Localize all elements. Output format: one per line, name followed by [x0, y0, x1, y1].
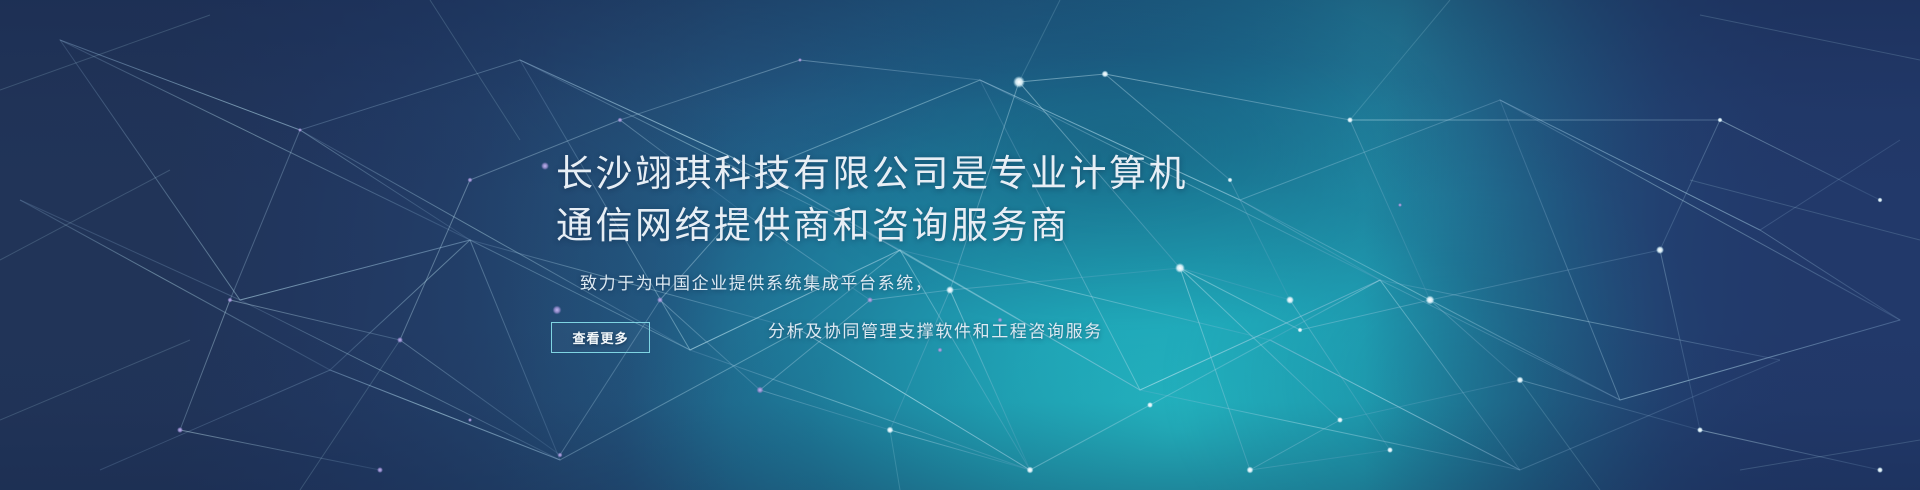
subtitle-line-1: 致力于为中国企业提供系统集成平台系统，: [580, 262, 933, 306]
hero-content: 长沙翊琪科技有限公司是专业计算机 通信网络提供商和咨询服务商 致力于为中国企业提…: [0, 0, 1920, 490]
view-more-button[interactable]: 查看更多: [551, 322, 650, 353]
hero-headline: 长沙翊琪科技有限公司是专业计算机 通信网络提供商和咨询服务商: [556, 148, 1188, 252]
headline-line-2: 通信网络提供商和咨询服务商: [556, 200, 1188, 252]
view-more-label: 查看更多: [572, 328, 628, 347]
subtitle-line-2: 分析及协同管理支撑软件和工程咨询服务: [768, 310, 1103, 354]
headline-line-1: 长沙翊琪科技有限公司是专业计算机: [556, 148, 1188, 200]
hero-banner: 长沙翊琪科技有限公司是专业计算机 通信网络提供商和咨询服务商 致力于为中国企业提…: [0, 0, 1920, 490]
